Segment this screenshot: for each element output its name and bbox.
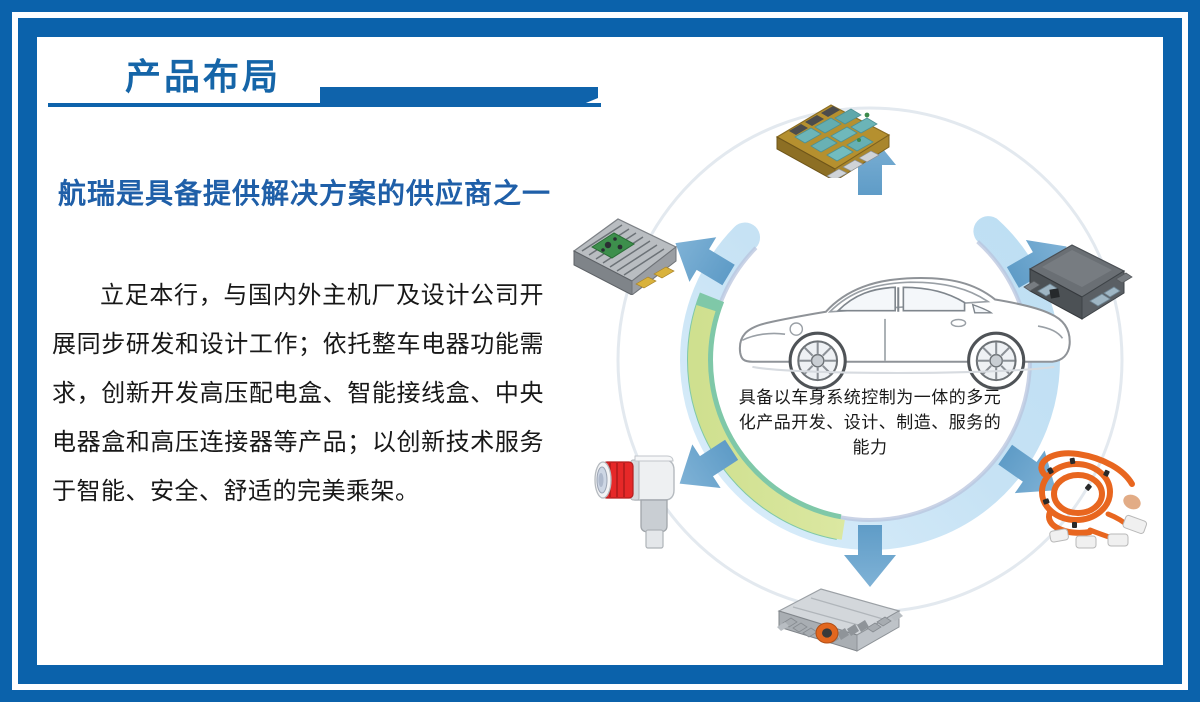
product-finned-heatsink-ecu bbox=[565, 195, 685, 295]
slide-root: 产品布局 航瑞是具备提供解决方案的供应商之一 立足本行，与国内外主机厂及设计公司… bbox=[0, 0, 1200, 702]
section-subtitle: 航瑞是具备提供解决方案的供应商之一 bbox=[58, 172, 551, 212]
title-accent-bar bbox=[320, 87, 598, 106]
diagram-center-caption: 具备以车身系统控制为一体的多元化产品开发、设计、制造、服务的能力 bbox=[735, 385, 1005, 460]
section-title-block: 产品布局 bbox=[45, 58, 605, 118]
page-title: 产品布局 bbox=[125, 54, 281, 102]
product-grey-junction-box bbox=[1012, 225, 1137, 325]
product-hv-distribution-box bbox=[765, 575, 915, 660]
product-layout-diagram: 具备以车身系统控制为一体的多元化产品开发、设计、制造、服务的能力 bbox=[560, 55, 1180, 665]
product-hv-angled-connector bbox=[575, 440, 690, 550]
product-orange-hv-wire-harness bbox=[1020, 440, 1155, 550]
body-paragraph: 立足本行，与国内外主机厂及设计公司开展同步研发和设计工作；依托整车电器功能需求，… bbox=[52, 272, 544, 517]
product-relay-pcb-module bbox=[765, 83, 895, 178]
